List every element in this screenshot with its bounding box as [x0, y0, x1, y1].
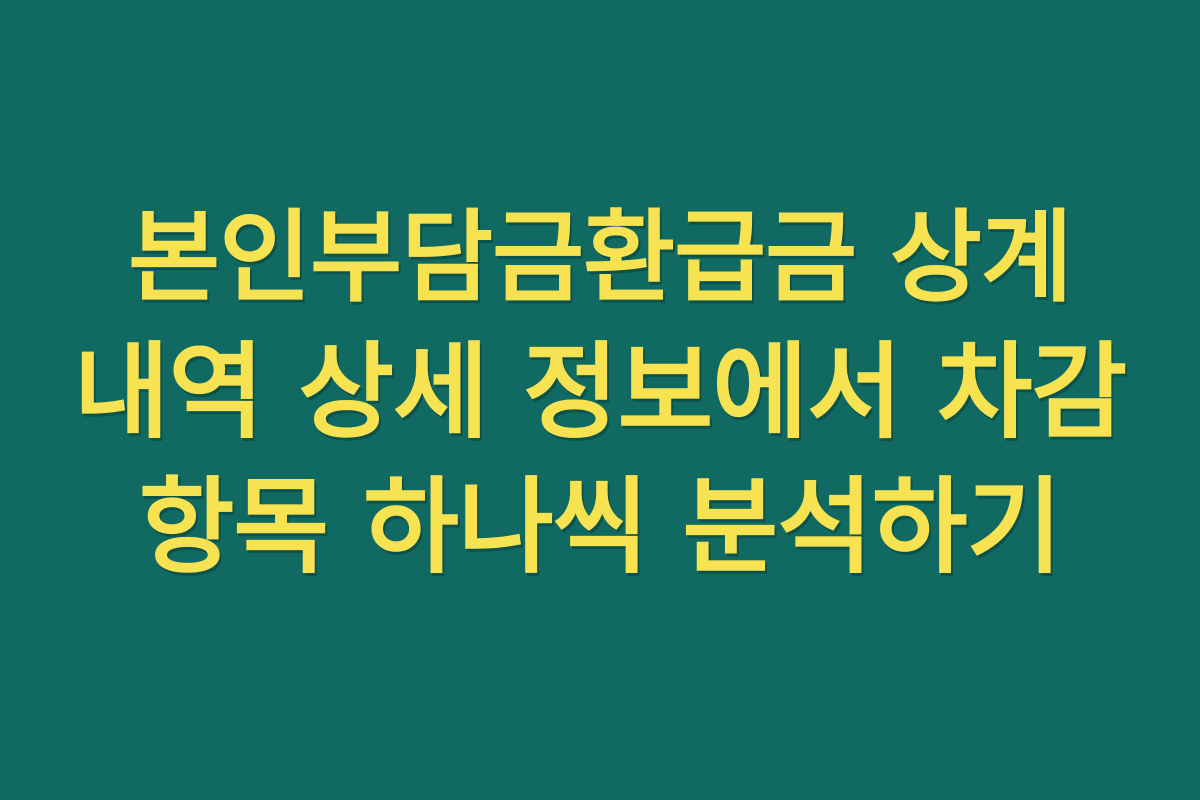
headline-line-2: 내역 상세 정보에서 차감 — [0, 325, 1200, 460]
headline-block: 본인부담금환급금 상계 내역 상세 정보에서 차감 항목 하나씩 분석하기 — [0, 190, 1200, 595]
headline-line-3: 항목 하나씩 분석하기 — [0, 460, 1200, 595]
thumbnail-canvas: 본인부담금환급금 상계 내역 상세 정보에서 차감 항목 하나씩 분석하기 — [0, 0, 1200, 800]
headline-line-1: 본인부담금환급금 상계 — [0, 190, 1200, 325]
